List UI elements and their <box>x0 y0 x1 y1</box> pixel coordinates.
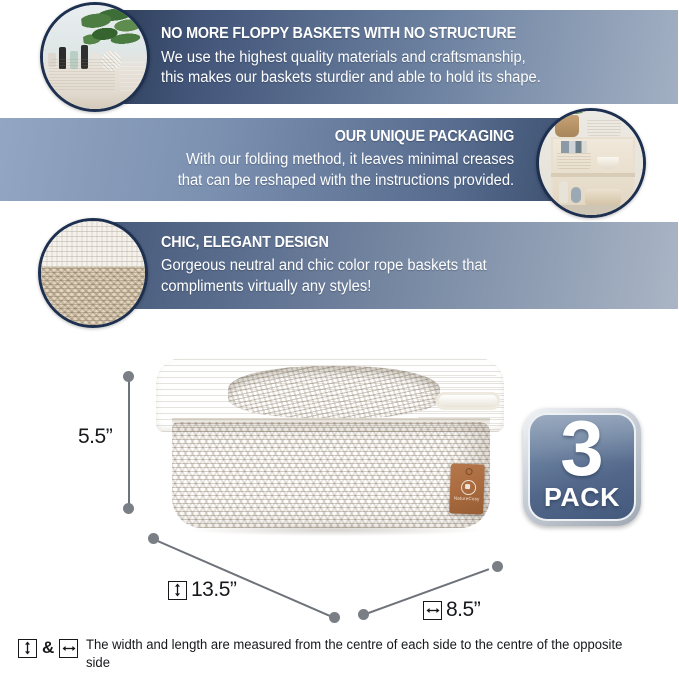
feature-image-rope-texture <box>38 218 148 328</box>
feature-banner-3-body-line-1: Gorgeous neutral and chic color rope bas… <box>161 256 487 276</box>
width-value: 8.5” <box>446 598 480 622</box>
footnote: & The width and length are measured from… <box>18 636 664 673</box>
badge-count: 3 <box>530 413 634 487</box>
length-dimension-label: 13.5” <box>168 578 236 602</box>
rope-basket <box>587 119 621 136</box>
feature-banner-2-body-line-2: that can be reshaped with the instructio… <box>178 171 514 191</box>
product-photo-storage-basket: NatureCosy <box>150 352 510 542</box>
feature-banner-2-body-line-1: With our folding method, it leaves minim… <box>178 150 514 170</box>
tag-hole <box>465 468 472 475</box>
dimension-endpoint-dot <box>123 503 134 514</box>
feature-banner-1-body-line-2: this makes our baskets sturdier and able… <box>161 68 541 88</box>
feature-banner-3-heading: CHIC, ELEGANT DESIGN <box>161 235 480 251</box>
white-rope-weave <box>41 221 145 267</box>
basket-beige-body <box>172 422 490 528</box>
vertical-arrow-icon <box>18 639 37 658</box>
height-value: 5.5” <box>78 425 112 449</box>
feature-banner-1-heading: NO MORE FLOPPY BASKETS WITH NO STRUCTURE <box>161 26 533 42</box>
feature-banner-1-body-line-1: We use the highest quality materials and… <box>161 48 541 68</box>
dimension-endpoint-dot <box>123 371 134 382</box>
floor-surface <box>539 205 643 215</box>
feature-image-shelving-unit <box>536 108 646 218</box>
rope-basket <box>49 59 115 93</box>
product-drop-shadow <box>190 524 480 536</box>
feature-banner-1-text: NO MORE FLOPPY BASKETS WITH NO STRUCTURE… <box>98 26 561 87</box>
dimension-endpoint-dot <box>358 609 369 620</box>
badge-label: PACK <box>528 482 635 513</box>
shelf-divider <box>551 173 635 177</box>
feature-image-bathroom-basket <box>40 2 150 112</box>
plant-pot <box>119 61 145 95</box>
brand-hang-tag: NatureCosy <box>449 463 485 514</box>
three-pack-badge: 3 PACK <box>523 408 641 526</box>
badge-inner: 3 PACK <box>528 413 636 521</box>
dimension-endpoint-dot <box>148 533 159 544</box>
dimension-endpoint-dot <box>492 561 503 572</box>
brand-name: NatureCosy <box>450 495 484 501</box>
counter-surface <box>43 91 147 109</box>
feature-banner-our-unique-packaging: OUR UNIQUE PACKAGING With our folding me… <box>0 118 582 201</box>
height-dimension-line <box>128 380 130 508</box>
length-value: 13.5” <box>191 578 236 602</box>
width-dimension-label: 8.5” <box>423 598 480 622</box>
dimension-endpoint-dot <box>329 612 340 623</box>
feature-banner-no-more-floppy-baskets: NO MORE FLOPPY BASKETS WITH NO STRUCTURE… <box>98 10 678 104</box>
beige-rope-weave <box>41 267 145 325</box>
horizontal-arrow-icon <box>59 639 78 658</box>
height-dimension-label: 5.5” <box>78 425 112 449</box>
vase <box>571 187 581 203</box>
rope-basket <box>585 189 621 205</box>
vase <box>559 181 568 203</box>
product-infographic: NO MORE FLOPPY BASKETS WITH NO STRUCTURE… <box>0 0 679 673</box>
brand-logo-icon <box>461 480 477 496</box>
feature-banner-2-heading: OUR UNIQUE PACKAGING <box>185 129 514 145</box>
footnote-icons: & <box>18 636 78 658</box>
footnote-line-1: The width and length are measured from t… <box>86 636 649 672</box>
basket-interior <box>228 366 440 418</box>
footnote-text: The width and length are measured from t… <box>86 636 664 673</box>
horizontal-arrow-icon <box>423 601 442 620</box>
vertical-arrow-icon <box>168 581 187 600</box>
basket-handle <box>436 392 500 410</box>
woven-planter <box>555 115 579 137</box>
feature-banner-chic-elegant-design: CHIC, ELEGANT DESIGN Gorgeous neutral an… <box>98 222 678 309</box>
feature-banner-3-body-line-2: compliments virtually any styles! <box>161 277 487 297</box>
footnote-ampersand: & <box>42 638 54 658</box>
rope-basket <box>557 151 591 169</box>
feature-banner-2-text: OUR UNIQUE PACKAGING With our folding me… <box>160 129 582 190</box>
feature-banner-3-text: CHIC, ELEGANT DESIGN Gorgeous neutral an… <box>98 235 504 296</box>
